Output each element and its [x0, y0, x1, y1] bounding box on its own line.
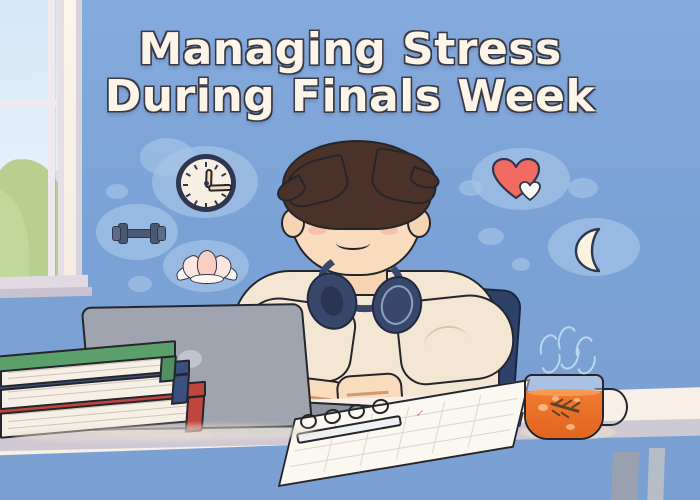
dumbbell-icon: [110, 218, 166, 246]
poster-illustration: Managing Stress During Finals Week: [0, 0, 700, 500]
book-top-spine: [159, 355, 177, 383]
window-glass: [0, 0, 66, 281]
tea-bubble-2: [552, 396, 559, 401]
heart-icon: [492, 158, 550, 204]
mouth-smile: [336, 236, 370, 250]
bubble-accent-5: [568, 178, 598, 198]
window-mullion-vertical: [48, 0, 55, 284]
books-shadow: [12, 428, 212, 442]
desk-leg-front: [611, 452, 639, 500]
tea-surface: [528, 389, 600, 396]
window-light-glare: [64, 0, 76, 290]
desk-leg-back: [647, 448, 665, 500]
lotus-icon: [176, 248, 238, 284]
tea-bubble-3: [574, 398, 580, 402]
tea-bubble-4: [566, 424, 575, 430]
planner-check-4: ✓: [415, 410, 425, 421]
mug-glass: [524, 374, 604, 440]
bubble-accent-6: [478, 228, 504, 245]
bubble-accent-7: [512, 258, 530, 271]
sky: [0, 0, 66, 171]
moon-icon: [566, 226, 616, 274]
bubble-accent-4: [459, 180, 483, 196]
bubble-accent-3: [128, 276, 152, 292]
bubble-accent-2: [106, 184, 128, 199]
tea-bubble-1: [538, 404, 548, 411]
